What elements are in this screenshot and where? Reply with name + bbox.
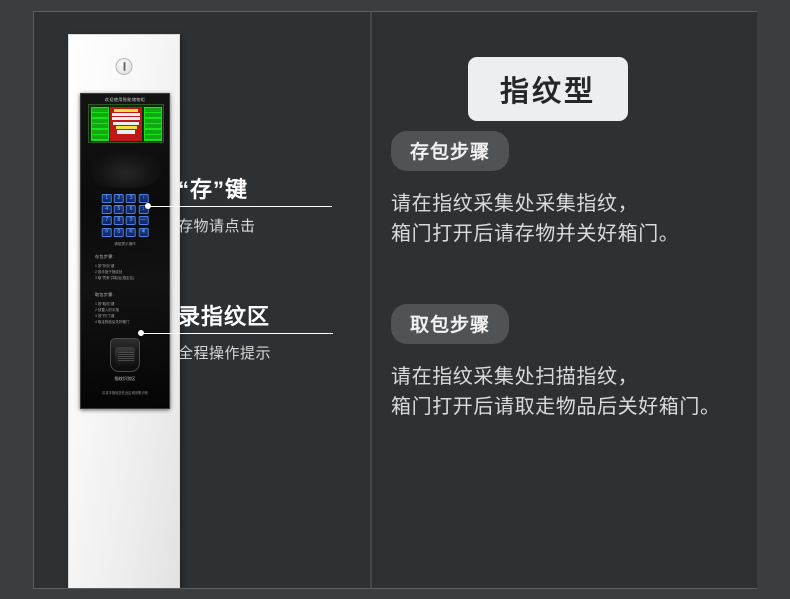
content-panel: 指纹型 存包步骤 请在指纹采集处采集指纹， 箱门打开后请存物并关好箱门。 取包步…	[372, 12, 757, 588]
section-badge: 取包步骤	[391, 304, 509, 344]
callout-title: 录指纹区	[178, 299, 270, 331]
section-body: 请在指纹采集处扫描指纹， 箱门打开后请取走物品后关好箱门。	[391, 362, 721, 423]
section-badge: 存包步骤	[391, 131, 509, 171]
callout-line	[143, 333, 333, 335]
section-body: 请在指纹采集处采集指纹， 箱门打开后请存物并关好箱门。	[391, 189, 679, 250]
product-image-panel: 欢迎使用智能储物柜	[34, 12, 371, 588]
section-retrieve: 取包步骤 请在指纹采集处扫描指纹， 箱门打开后请取走物品后关好箱门。	[391, 304, 721, 423]
callout-fingerprint-area: 录指纹区 全程操作提示	[34, 12, 371, 588]
callout-subtitle: 全程操作提示	[178, 342, 271, 363]
section-store: 存包步骤 请在指纹采集处采集指纹， 箱门打开后请存物并关好箱门。	[391, 131, 679, 250]
screenshot-root: 欢迎使用智能储物柜	[0, 0, 790, 599]
page-title: 指纹型	[468, 57, 628, 121]
